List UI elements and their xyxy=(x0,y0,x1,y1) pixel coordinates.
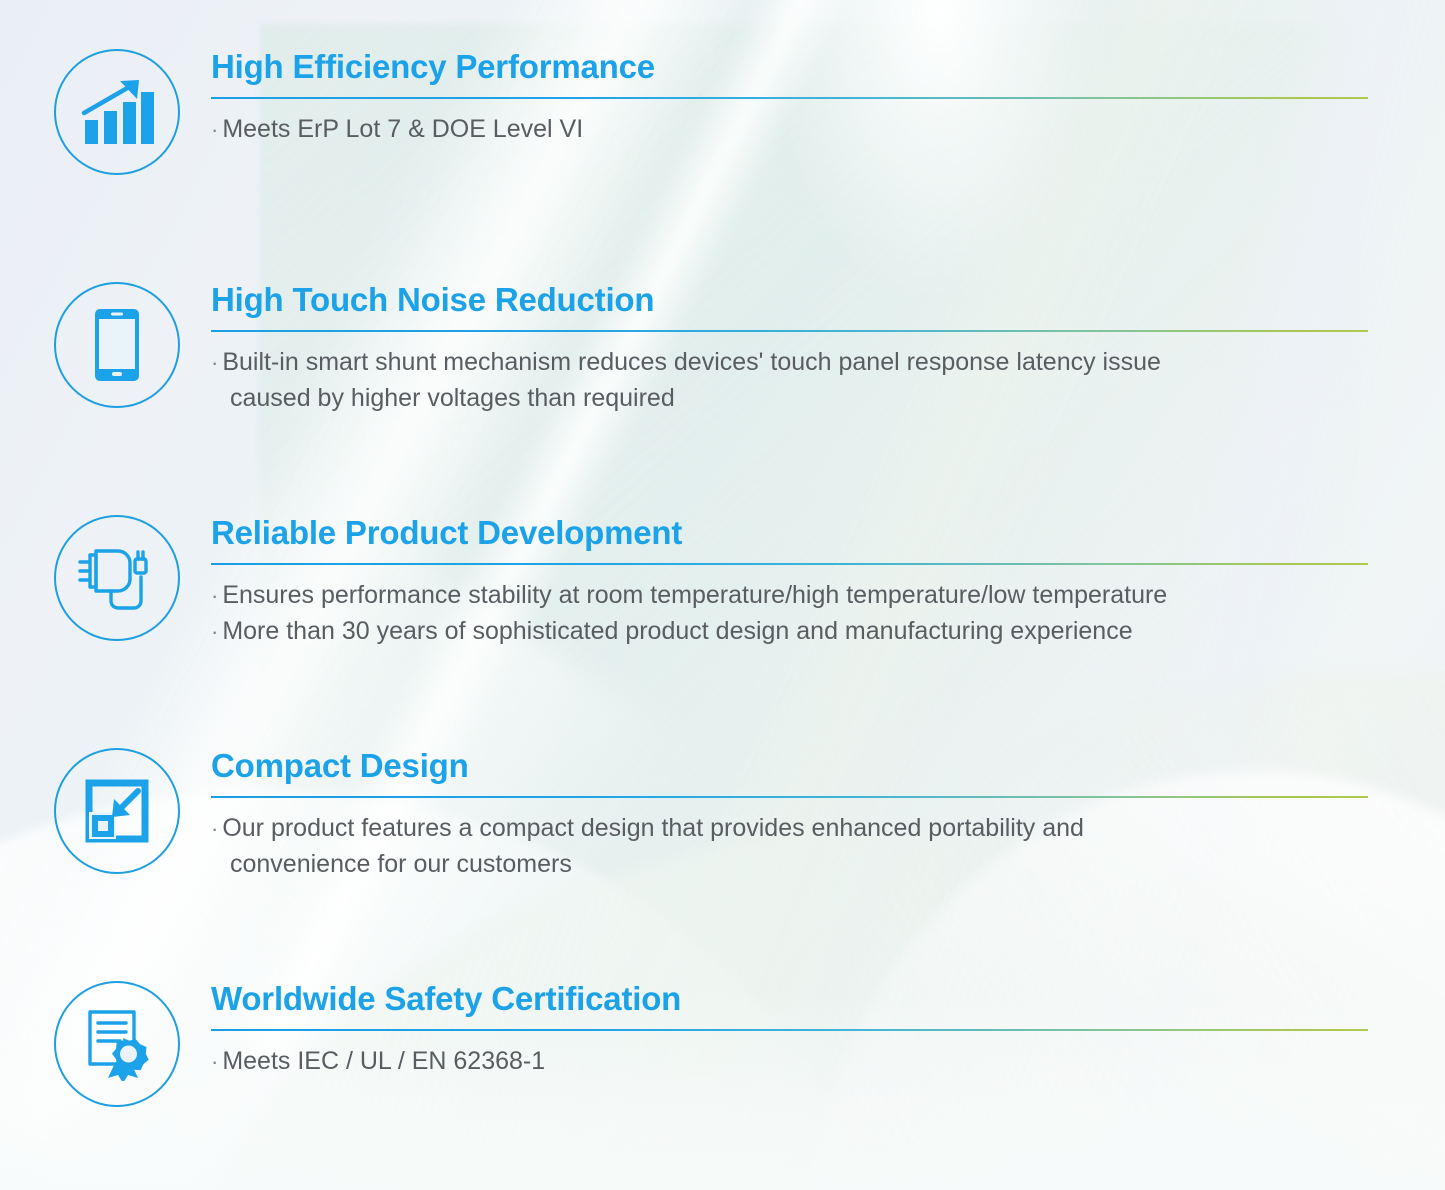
feature-title: Worldwide Safety Certification xyxy=(211,981,1371,1018)
bullet-line: Our product features a compact design th… xyxy=(222,814,1084,842)
feature-icon-wrapper xyxy=(54,49,180,175)
feature-title: High Efficiency Performance xyxy=(211,49,1371,86)
certificate-seal-icon xyxy=(54,981,180,1107)
feature-title: Compact Design xyxy=(211,748,1371,785)
feature-bullet: ·Meets ErP Lot 7 & DOE Level VI xyxy=(211,112,1371,148)
bullet-marker-icon: · xyxy=(211,619,218,644)
feature-bullets: ·Meets ErP Lot 7 & DOE Level VI xyxy=(211,112,1371,148)
feature-bullet: ·Our product features a compact design t… xyxy=(211,811,1371,882)
feature-divider xyxy=(211,1029,1368,1032)
power-adapter-icon xyxy=(54,515,180,641)
feature-text-block: Compact Design ·Our product features a c… xyxy=(211,748,1371,882)
bullet-line: Meets IEC / UL / EN 62368-1 xyxy=(222,1047,545,1075)
feature-bullet: ·Ensures performance stability at room t… xyxy=(211,578,1371,614)
feature-divider xyxy=(211,796,1368,799)
feature-title: High Touch Noise Reduction xyxy=(211,282,1371,319)
feature-text-block: High Touch Noise Reduction ·Built-in sma… xyxy=(211,282,1371,416)
feature-icon-wrapper xyxy=(54,981,180,1107)
feature-divider xyxy=(211,97,1368,100)
feature-highlights-page: High Efficiency Performance ·Meets ErP L… xyxy=(0,0,1445,1190)
feature-text-block: Reliable Product Development ·Ensures pe… xyxy=(211,515,1371,649)
feature-bullets: ·Our product features a compact design t… xyxy=(211,811,1371,882)
bullet-line: Meets ErP Lot 7 & DOE Level VI xyxy=(222,115,583,143)
bullet-marker-icon: · xyxy=(211,117,218,142)
bullet-line: convenience for our customers xyxy=(211,847,1371,883)
bullet-marker-icon: · xyxy=(211,350,218,375)
feature-title: Reliable Product Development xyxy=(211,515,1371,552)
feature-bullets: ·Meets IEC / UL / EN 62368-1 xyxy=(211,1044,1371,1080)
bar-chart-growth-icon xyxy=(54,49,180,175)
bullet-line: More than 30 years of sophisticated prod… xyxy=(222,617,1132,645)
feature-bullets: ·Built-in smart shunt mechanism reduces … xyxy=(211,345,1371,416)
feature-bullet: ·Built-in smart shunt mechanism reduces … xyxy=(211,345,1371,416)
bullet-marker-icon: · xyxy=(211,583,218,608)
feature-divider xyxy=(211,330,1368,333)
feature-bullet: ·More than 30 years of sophisticated pro… xyxy=(211,614,1371,650)
bullet-marker-icon: · xyxy=(211,816,218,841)
feature-text-block: High Efficiency Performance ·Meets ErP L… xyxy=(211,49,1371,148)
feature-bullet: ·Meets IEC / UL / EN 62368-1 xyxy=(211,1044,1371,1080)
feature-divider xyxy=(211,563,1368,566)
bullet-marker-icon: · xyxy=(211,1049,218,1074)
compact-resize-icon xyxy=(54,748,180,874)
feature-icon-wrapper xyxy=(54,282,180,408)
feature-bullets: ·Ensures performance stability at room t… xyxy=(211,578,1371,649)
feature-text-block: Worldwide Safety Certification ·Meets IE… xyxy=(211,981,1371,1080)
feature-icon-wrapper xyxy=(54,748,180,874)
bullet-line: Ensures performance stability at room te… xyxy=(222,581,1167,609)
feature-icon-wrapper xyxy=(54,515,180,641)
bullet-line: caused by higher voltages than required xyxy=(211,381,1371,417)
bullet-line: Built-in smart shunt mechanism reduces d… xyxy=(222,348,1161,376)
smartphone-icon xyxy=(54,282,180,408)
